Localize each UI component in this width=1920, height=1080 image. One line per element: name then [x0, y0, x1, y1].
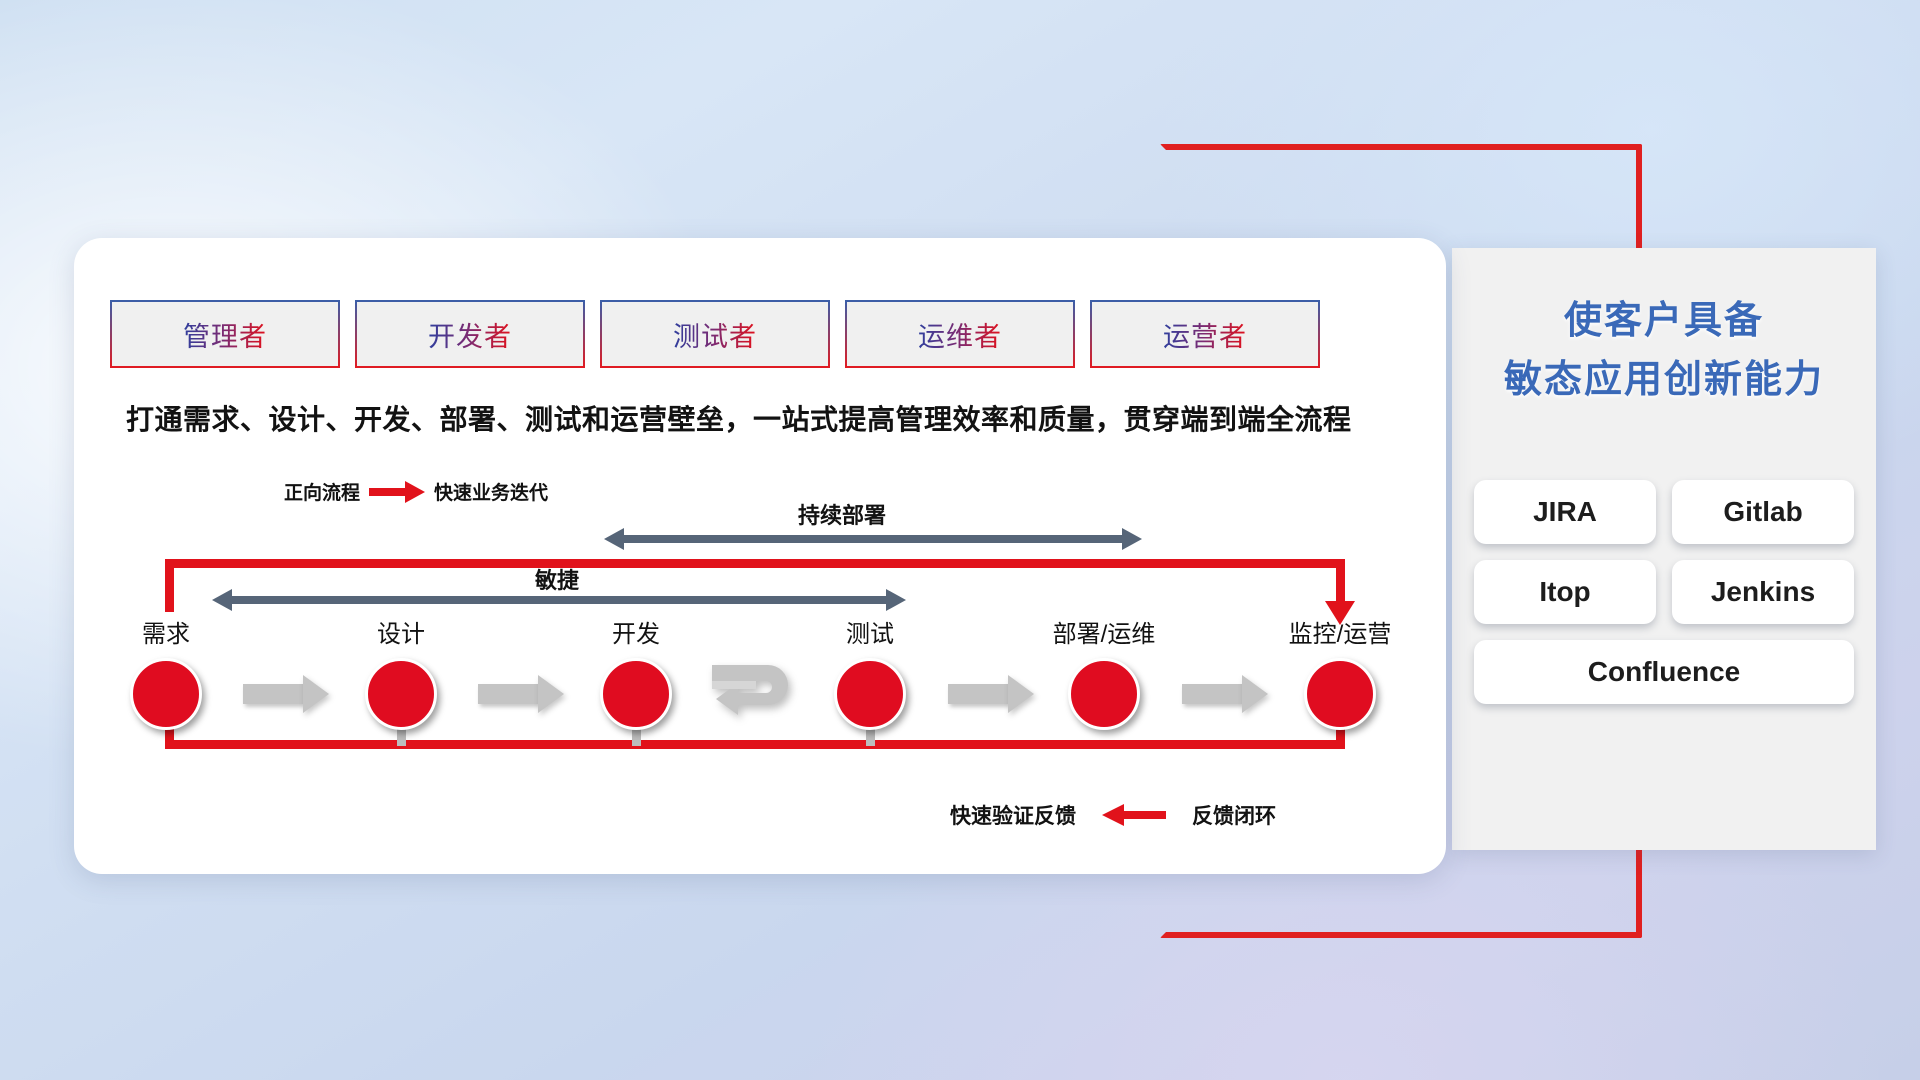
role-label: 管理者: [183, 315, 267, 354]
feedback-loop-right: [1336, 559, 1345, 603]
flow-arrow-icon-4: [948, 675, 1034, 713]
tool-row: Confluence: [1474, 640, 1854, 704]
tool-pill-confluence[interactable]: Confluence: [1474, 640, 1854, 704]
stage-dot[interactable]: [600, 658, 672, 730]
stage-requirement[interactable]: 需求: [130, 658, 202, 730]
tool-pill-itop[interactable]: Itop: [1474, 560, 1656, 624]
role-box-developer[interactable]: 开发者: [355, 300, 585, 368]
stage-deploy-ops[interactable]: 部署/运维: [1068, 658, 1140, 730]
flow-arrow-icon-2: [478, 675, 564, 713]
panel-title: 使客户具备 敏态应用创新能力: [1452, 292, 1876, 410]
tool-pill-gitlab[interactable]: Gitlab: [1672, 480, 1854, 544]
feedback-legend: 快速验证反馈 反馈闭环: [950, 800, 1276, 830]
role-label: 运维者: [918, 315, 1002, 354]
role-box-row: 管理者 开发者 测试者 运维者 运营者: [110, 300, 1320, 368]
tools-panel: 使客户具备 敏态应用创新能力 JIRA Gitlab Itop Jenkins …: [1452, 248, 1876, 850]
stage-dot[interactable]: [834, 658, 906, 730]
span-label-continuous-deploy: 持续部署: [798, 498, 886, 530]
forward-flow-to-label: 快速业务迭代: [434, 478, 548, 505]
feedback-loop-top: [165, 559, 1345, 568]
stage-label: 部署/运维: [1053, 614, 1156, 649]
forward-flow-legend: 正向流程 快速业务迭代: [284, 478, 548, 505]
feedback-loop-left: [165, 559, 174, 612]
loop-back-icon: [710, 655, 810, 742]
stage-design[interactable]: 设计: [365, 658, 437, 730]
stage-dot[interactable]: [365, 658, 437, 730]
stage-dot[interactable]: [1304, 658, 1376, 730]
role-label: 测试者: [673, 315, 757, 354]
arrow-left-icon: [1102, 804, 1166, 826]
stage-label: 需求: [142, 614, 190, 649]
stage-dot[interactable]: [130, 658, 202, 730]
role-box-operator[interactable]: 运营者: [1090, 300, 1320, 368]
tool-pill-jenkins[interactable]: Jenkins: [1672, 560, 1854, 624]
role-box-ops[interactable]: 运维者: [845, 300, 1075, 368]
role-box-manager[interactable]: 管理者: [110, 300, 340, 368]
tool-row: Itop Jenkins: [1474, 560, 1854, 624]
tool-pill-jira[interactable]: JIRA: [1474, 480, 1656, 544]
stage-develop[interactable]: 开发: [600, 658, 672, 730]
double-arrow-icon-agile: [212, 589, 906, 611]
tool-grid: JIRA Gitlab Itop Jenkins Confluence: [1474, 480, 1854, 720]
role-label: 开发者: [428, 315, 512, 354]
headline-text: 打通需求、设计、开发、部署、测试和运营壁垒，一站式提高管理效率和质量，贯穿端到端…: [126, 398, 1446, 438]
tool-row: JIRA Gitlab: [1474, 480, 1854, 544]
role-label: 运营者: [1163, 315, 1247, 354]
flow-arrow-icon-5: [1182, 675, 1268, 713]
panel-title-line1: 使客户具备: [1452, 292, 1876, 351]
feedback-to-label: 反馈闭环: [1192, 800, 1276, 830]
stage-dot[interactable]: [1068, 658, 1140, 730]
stage-test[interactable]: 测试: [834, 658, 906, 730]
stage-monitor-operate[interactable]: 监控/运营: [1304, 658, 1376, 730]
stage-label: 监控/运营: [1289, 614, 1392, 649]
feedback-from-label: 快速验证反馈: [950, 800, 1076, 830]
stage-label: 测试: [846, 614, 894, 649]
forward-flow-from-label: 正向流程: [284, 478, 360, 505]
flow-arrow-icon-1: [243, 675, 329, 713]
role-box-tester[interactable]: 测试者: [600, 300, 830, 368]
panel-title-line2: 敏态应用创新能力: [1452, 351, 1876, 410]
double-arrow-icon-continuous-deploy: [604, 528, 1142, 550]
stage-label: 设计: [377, 614, 425, 649]
stage-label: 开发: [612, 614, 660, 649]
